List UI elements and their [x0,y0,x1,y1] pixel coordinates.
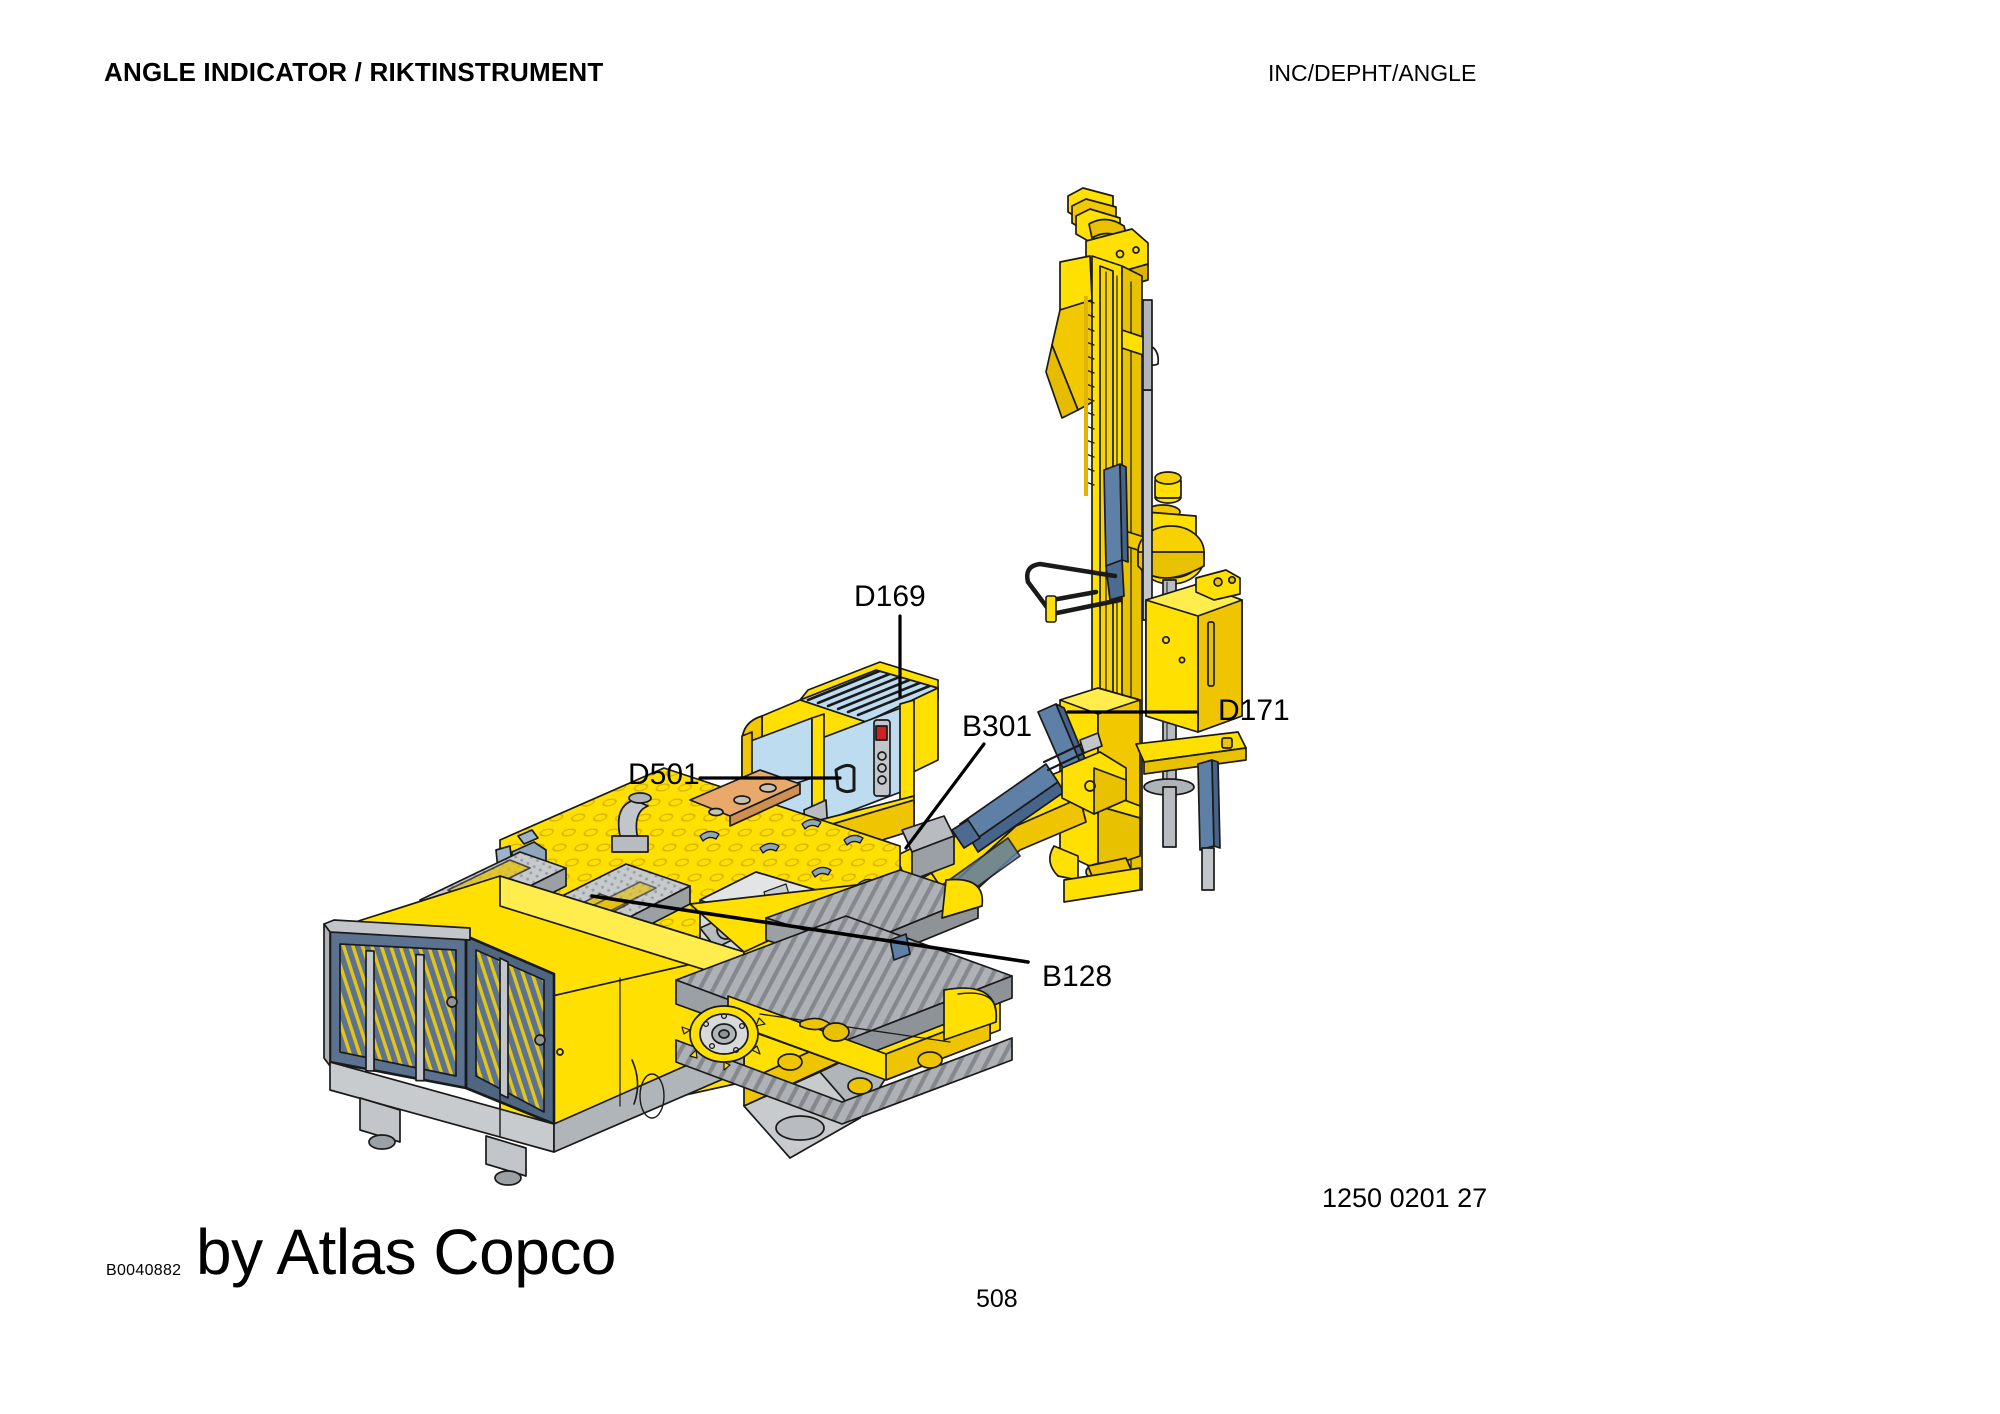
parts-catalog-page: ANGLE INDICATOR / RIKTINSTRUMENT INC/DEP… [0,0,2000,1414]
page-number: 508 [976,1285,1018,1314]
drill-rig-illustration [0,0,2000,1414]
document-code: B0040882 [106,1262,181,1280]
callout-label-b301: B301 [962,710,1032,744]
part-number: 1250 0201 27 [1322,1183,1487,1214]
callout-label-d169: D169 [854,580,926,614]
brand-wordmark: by Atlas Copco [196,1215,616,1289]
callout-label-b128: B128 [1042,960,1112,994]
callout-label-d171: D171 [1218,694,1290,728]
callout-label-d501: D501 [628,758,700,792]
